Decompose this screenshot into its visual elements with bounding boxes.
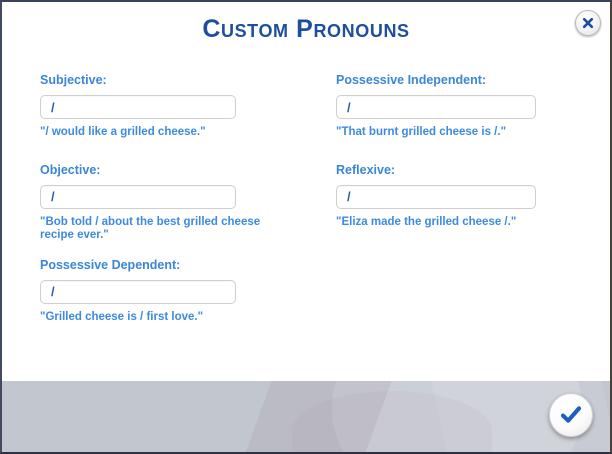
dialog-footer: [2, 381, 610, 452]
field-hint-possessive-dependent: "Grilled cheese is / first love.": [40, 311, 276, 325]
field-label-reflexive: Reflexive:: [336, 162, 576, 178]
custom-pronouns-dialog: Custom Pronouns Subjective: "/ would lik…: [0, 0, 612, 454]
field-reflexive: Reflexive: "Eliza made the grilled chees…: [336, 162, 576, 230]
field-hint-subjective: "/ would like a grilled cheese.": [40, 126, 276, 140]
subjective-input[interactable]: [40, 95, 236, 119]
confirm-button[interactable]: [549, 393, 593, 437]
field-label-possessive-independent: Possessive Independent:: [336, 72, 576, 88]
field-hint-reflexive: "Eliza made the grilled cheese /.": [336, 216, 572, 230]
field-possessive-dependent: Possessive Dependent: "Grilled cheese is…: [40, 257, 280, 325]
close-button[interactable]: [575, 10, 601, 36]
field-hint-possessive-independent: "That burnt grilled cheese is /.": [336, 126, 572, 140]
possessive-independent-input[interactable]: [336, 95, 536, 119]
page-title: Custom Pronouns: [2, 14, 610, 44]
reflexive-input[interactable]: [336, 185, 536, 209]
footer-background-art: [2, 381, 610, 452]
pronoun-form: Subjective: "/ would like a grilled chee…: [2, 58, 610, 377]
field-label-possessive-dependent: Possessive Dependent:: [40, 257, 280, 273]
field-label-objective: Objective:: [40, 162, 280, 178]
form-column-right: Possessive Independent: "That burnt gril…: [336, 72, 576, 346]
form-column-left: Subjective: "/ would like a grilled chee…: [40, 72, 280, 346]
field-label-subjective: Subjective:: [40, 72, 280, 88]
form-columns: Subjective: "/ would like a grilled chee…: [40, 72, 580, 346]
close-x-icon: [581, 16, 595, 30]
field-hint-objective: "Bob told / about the best grilled chees…: [40, 216, 276, 243]
dialog-title-bar: Custom Pronouns: [2, 2, 610, 58]
field-objective: Objective: "Bob told / about the best gr…: [40, 162, 280, 243]
field-possessive-independent: Possessive Independent: "That burnt gril…: [336, 72, 576, 140]
field-subjective: Subjective: "/ would like a grilled chee…: [40, 72, 280, 140]
possessive-dependent-input[interactable]: [40, 280, 236, 304]
checkmark-icon: [558, 402, 584, 428]
objective-input[interactable]: [40, 185, 236, 209]
